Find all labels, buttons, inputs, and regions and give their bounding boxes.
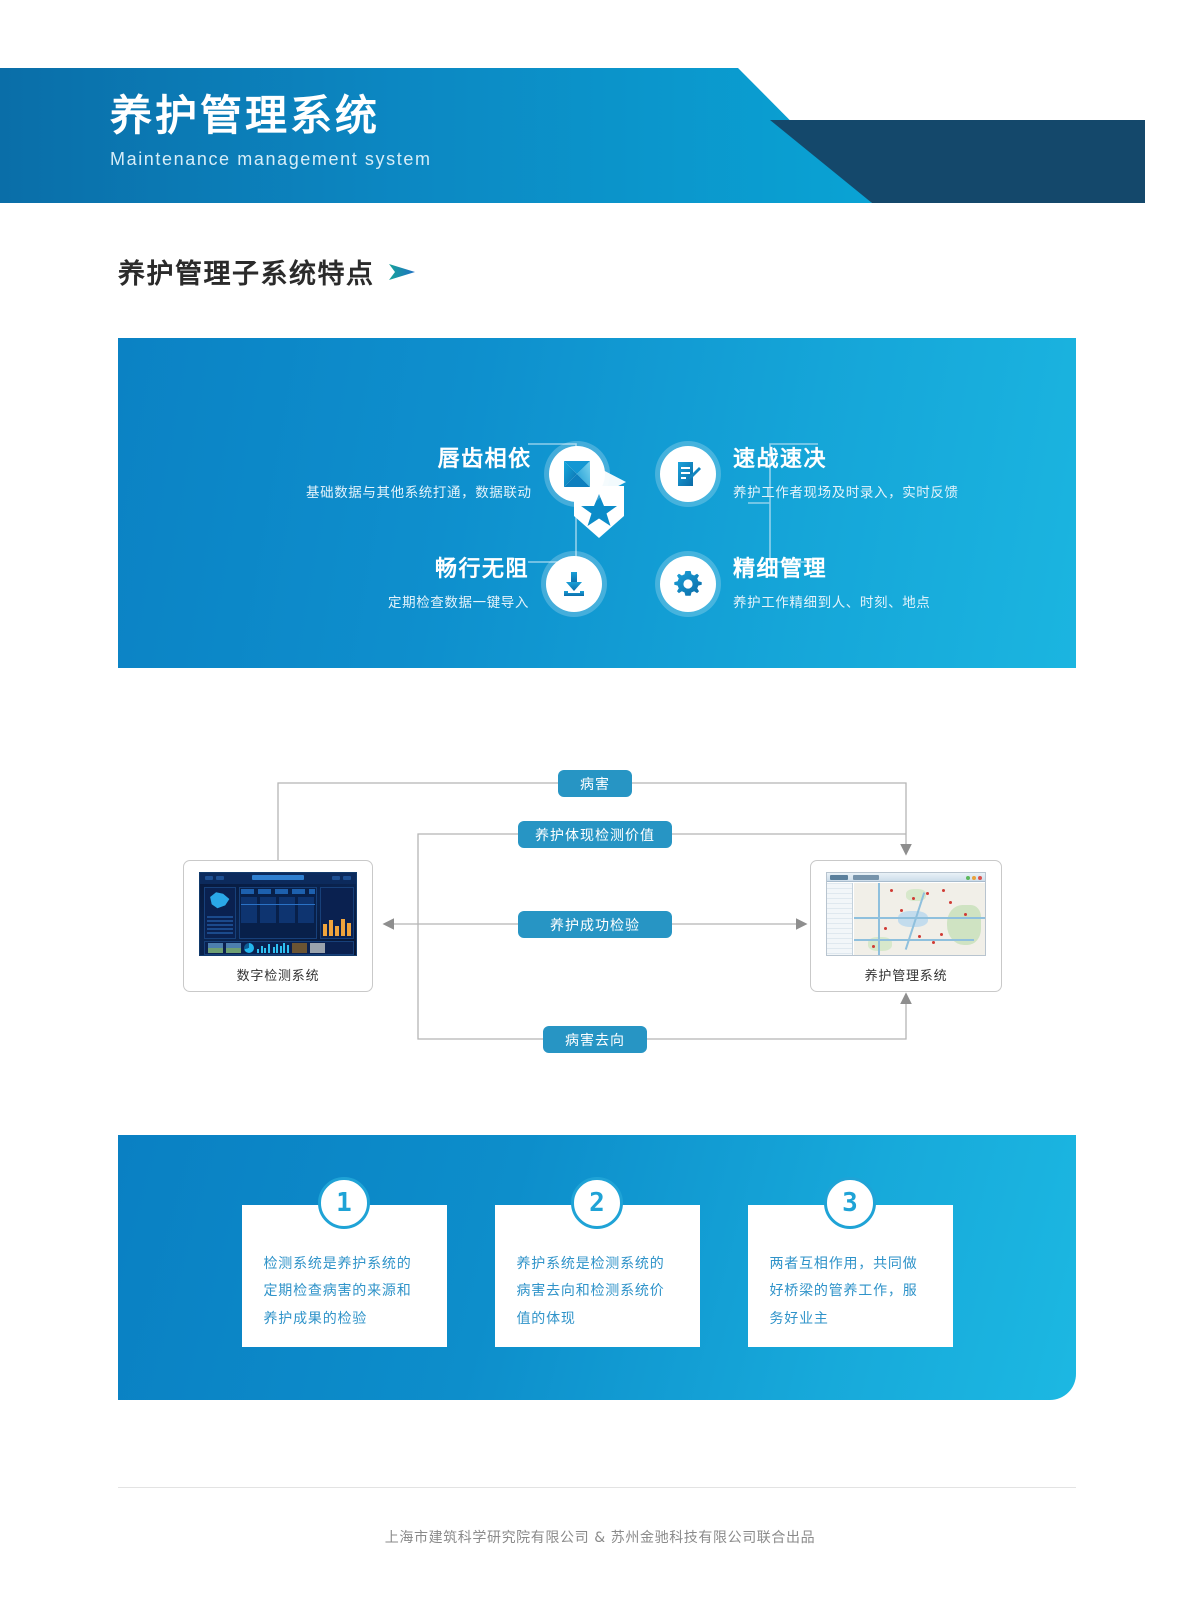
flow-label-second: 养护体现检测价值 bbox=[518, 821, 672, 848]
flow-node-caption: 养护管理系统 bbox=[865, 965, 948, 984]
feature-heading: 唇齿相依 bbox=[306, 446, 532, 475]
header-text-block: 养护管理系统 Maintenance management system bbox=[110, 92, 432, 170]
document-edit-icon bbox=[660, 446, 716, 502]
section-title: 养护管理子系统特点 bbox=[118, 252, 375, 291]
footer-text: 上海市建筑科学研究院有限公司 & 苏州金驰科技有限公司联合出品 bbox=[0, 1527, 1200, 1547]
section-heading-row: 养护管理子系统特点 bbox=[118, 252, 415, 291]
features-panel: 唇齿相依 基础数据与其他系统打通，数据联动 bbox=[118, 338, 1076, 668]
feature-heading: 精细管理 bbox=[733, 556, 930, 585]
flow-label-top: 病害 bbox=[558, 770, 632, 797]
summary-cards-panel: 1 检测系统是养护系统的定期检查病害的来源和养护成果的检验 2 养护系统是检测系… bbox=[118, 1135, 1076, 1400]
flow-node-maintenance-system[interactable]: 养护管理系统 bbox=[810, 860, 1002, 992]
summary-card-3: 3 两者互相作用，共同做好桥梁的管养工作，服务好业主 bbox=[748, 1205, 953, 1347]
four-point-star-icon bbox=[549, 446, 605, 502]
feature-item-1: 唇齿相依 基础数据与其他系统打通，数据联动 bbox=[306, 446, 605, 502]
feature-item-2: 畅行无阻 定期检查数据一键导入 bbox=[388, 556, 602, 612]
dark-dashboard-screenshot bbox=[199, 872, 357, 956]
download-icon bbox=[546, 556, 602, 612]
page-title: 养护管理系统 bbox=[110, 92, 432, 140]
card-number-badge: 1 bbox=[318, 1177, 370, 1229]
light-map-screenshot bbox=[826, 872, 986, 956]
feature-item-3: 速战速决 养护工作者现场及时录入，实时反馈 bbox=[660, 446, 959, 502]
summary-card-1: 1 检测系统是养护系统的定期检查病害的来源和养护成果的检验 bbox=[242, 1205, 447, 1347]
page-header: 养护管理系统 Maintenance management system bbox=[0, 68, 1145, 203]
flow-node-detection-system[interactable]: 数字检测系统 bbox=[183, 860, 373, 992]
feature-desc: 养护工作精细到人、时刻、地点 bbox=[733, 594, 930, 613]
card-text: 两者互相作用，共同做好桥梁的管养工作，服务好业主 bbox=[770, 1251, 931, 1333]
feature-desc: 定期检查数据一键导入 bbox=[388, 594, 529, 613]
feature-desc: 基础数据与其他系统打通，数据联动 bbox=[306, 484, 532, 503]
feature-heading: 畅行无阻 bbox=[388, 556, 529, 585]
flow-diagram: 病害 养护体现检测价值 养护成功检验 病害去向 bbox=[0, 745, 1200, 1085]
summary-card-2: 2 养护系统是检测系统的病害去向和检测系统价值的体现 bbox=[495, 1205, 700, 1347]
feature-heading: 速战速决 bbox=[733, 446, 959, 475]
feature-item-4: 精细管理 养护工作精细到人、时刻、地点 bbox=[660, 556, 930, 612]
footer-divider bbox=[118, 1487, 1076, 1488]
flow-label-bottom: 病害去向 bbox=[543, 1026, 647, 1053]
feature-desc: 养护工作者现场及时录入，实时反馈 bbox=[733, 484, 959, 503]
page-subtitle-en: Maintenance management system bbox=[110, 149, 432, 170]
card-text: 养护系统是检测系统的病害去向和检测系统价值的体现 bbox=[517, 1251, 678, 1333]
card-number-badge: 2 bbox=[571, 1177, 623, 1229]
card-number-badge: 3 bbox=[824, 1177, 876, 1229]
card-text: 检测系统是养护系统的定期检查病害的来源和养护成果的检验 bbox=[264, 1251, 425, 1333]
flow-label-third: 养护成功检验 bbox=[518, 911, 672, 938]
gear-icon bbox=[660, 556, 716, 612]
triangle-right-icon bbox=[389, 262, 415, 282]
flow-node-caption: 数字检测系统 bbox=[237, 965, 320, 984]
